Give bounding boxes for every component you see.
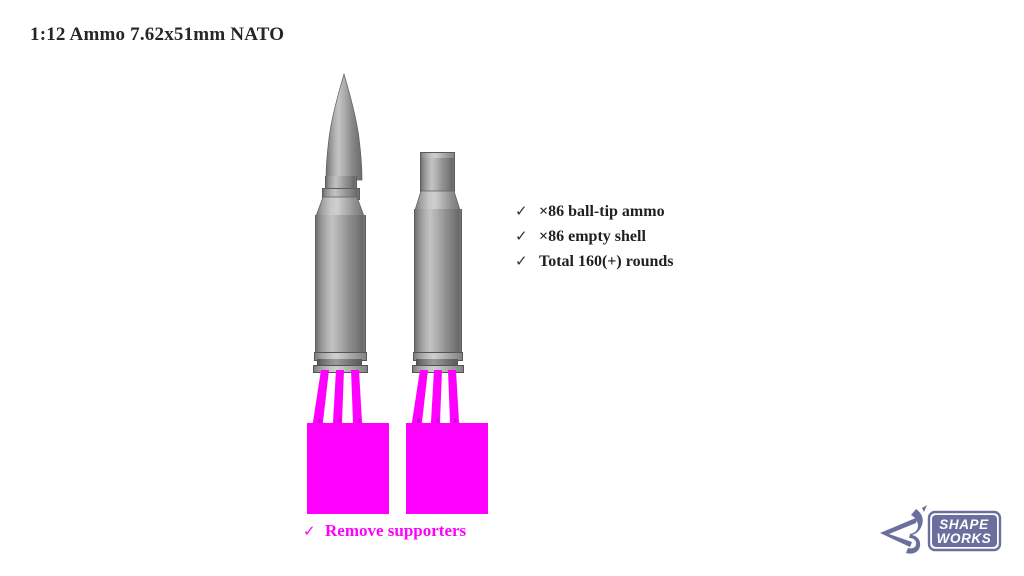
shape-works-logo-icon: SHAPE WORKS: [872, 503, 1004, 559]
case-neck: [322, 188, 360, 200]
feature-label: ×86 ball-tip ammo: [539, 203, 665, 221]
support-pillars: [300, 370, 390, 430]
list-item: ✓ ×86 empty shell: [515, 228, 775, 253]
support-raft: [307, 423, 389, 514]
case-shoulder: [408, 190, 468, 212]
remove-supporters-caption: ✓ Remove supporters: [303, 521, 466, 541]
case-rim: [412, 365, 464, 373]
support-pillars: [400, 370, 490, 430]
check-icon: ✓: [515, 204, 539, 219]
bullet-ogive-icon: [310, 72, 390, 192]
case-mouth: [420, 152, 455, 160]
feature-label: ×86 empty shell: [539, 228, 646, 246]
case-neck: [420, 158, 455, 192]
case-rim: [313, 365, 368, 373]
bullet-shank: [325, 176, 357, 190]
case-head-lip: [413, 352, 463, 361]
feature-label: Total 160(+) rounds: [539, 253, 673, 271]
check-icon: ✓: [515, 229, 539, 244]
list-item: ✓ ×86 ball-tip ammo: [515, 203, 775, 228]
extractor-groove: [317, 359, 362, 365]
extractor-groove: [416, 359, 458, 365]
caption-label: Remove supporters: [325, 521, 466, 541]
check-icon: ✓: [515, 254, 539, 269]
feature-list: ✓ ×86 ball-tip ammo ✓ ×86 empty shell ✓ …: [515, 203, 775, 278]
list-item: ✓ Total 160(+) rounds: [515, 253, 775, 278]
case-body: [414, 209, 462, 355]
case-body: [315, 215, 366, 355]
model-viewport: [0, 0, 1024, 576]
brand-logo: SHAPE WORKS: [872, 503, 1004, 559]
logo-line2: WORKS: [937, 531, 992, 546]
page-title: 1:12 Ammo 7.62x51mm NATO: [30, 24, 284, 46]
case-head-lip: [314, 352, 367, 361]
check-icon: ✓: [303, 522, 325, 540]
logo-line1: SHAPE: [939, 517, 989, 532]
case-shoulder: [310, 196, 370, 218]
support-raft: [406, 423, 488, 514]
